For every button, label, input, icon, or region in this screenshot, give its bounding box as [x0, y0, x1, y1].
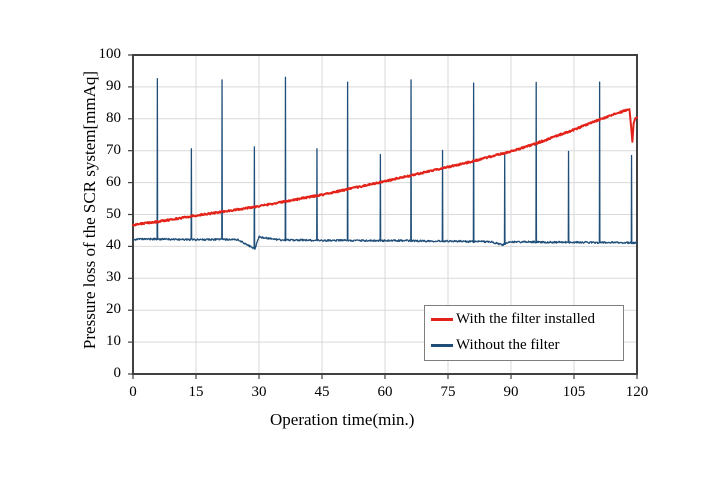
y-tick-label: 90	[87, 78, 121, 95]
x-axis-title: Operation time(min.)	[270, 410, 414, 430]
y-tick-label: 30	[87, 269, 121, 286]
x-tick-label: 90	[491, 384, 531, 401]
y-tick-label: 40	[87, 237, 121, 254]
legend-label-without-filter: Without the filter	[456, 337, 560, 354]
y-tick-label: 20	[87, 301, 121, 318]
x-tick-label: 45	[302, 384, 342, 401]
x-tick-label: 30	[239, 384, 279, 401]
y-tick-label: 0	[87, 365, 121, 382]
legend-swatch-blue	[431, 344, 453, 347]
y-tick-label: 10	[87, 333, 121, 350]
chart-legend: With the filter installed Without the fi…	[424, 305, 624, 361]
x-tick-label: 120	[617, 384, 657, 401]
y-tick-label: 50	[87, 206, 121, 223]
x-tick-label: 15	[176, 384, 216, 401]
x-tick-label: 105	[554, 384, 594, 401]
legend-label-with-filter: With the filter installed	[456, 311, 595, 328]
x-tick-label: 75	[428, 384, 468, 401]
legend-swatch-red	[431, 318, 453, 321]
y-tick-label: 100	[87, 46, 121, 63]
y-tick-label: 60	[87, 174, 121, 191]
y-tick-label: 70	[87, 142, 121, 159]
x-tick-label: 60	[365, 384, 405, 401]
chart-figure: Pressure loss of the SCR system[mmAq] Op…	[0, 0, 720, 480]
y-tick-label: 80	[87, 110, 121, 127]
legend-item-without-filter: Without the filter	[425, 332, 623, 358]
legend-item-with-filter: With the filter installed	[425, 306, 623, 332]
x-tick-label: 0	[113, 384, 153, 401]
